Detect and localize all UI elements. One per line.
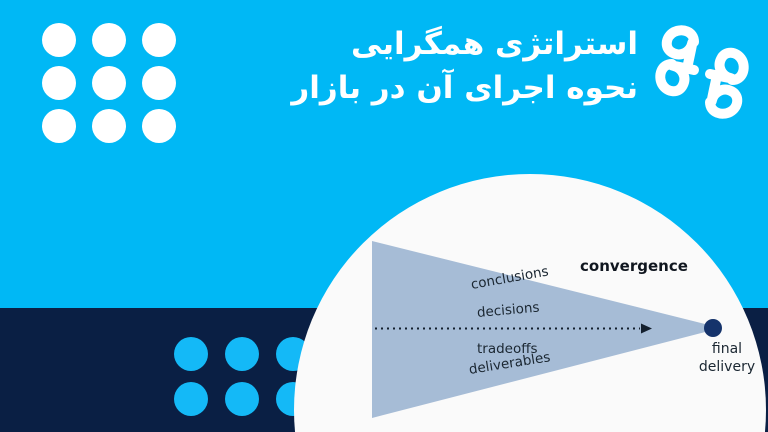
decor-dot [225, 382, 259, 416]
pinwheel-logo-icon [650, 20, 754, 124]
decor-dot [225, 337, 259, 371]
decor-dot [42, 23, 76, 57]
decor-dot [42, 66, 76, 100]
decor-dot-grid-bottom [157, 337, 310, 427]
decor-dot [42, 109, 76, 143]
decor-dot [92, 66, 126, 100]
decor-dot-grid-top [26, 23, 176, 152]
background-band-navy [0, 308, 768, 432]
decor-dot [276, 382, 310, 416]
page-title-line-2: نحوه اجرای آن در بازار [178, 66, 638, 110]
page-title: استراتژی همگرایی نحوه اجرای آن در بازار [178, 22, 638, 110]
decor-dot [174, 337, 208, 371]
decor-dot [142, 66, 176, 100]
decor-dot [142, 23, 176, 57]
page-title-line-1: استراتژی همگرایی [178, 22, 638, 66]
decor-dot [142, 109, 176, 143]
decor-dot [92, 23, 126, 57]
slide-canvas: استراتژی همگرایی نحوه اجرای آن در بازار [0, 0, 768, 432]
decor-dot [92, 109, 126, 143]
decor-dot [174, 382, 208, 416]
decor-dot [276, 337, 310, 371]
